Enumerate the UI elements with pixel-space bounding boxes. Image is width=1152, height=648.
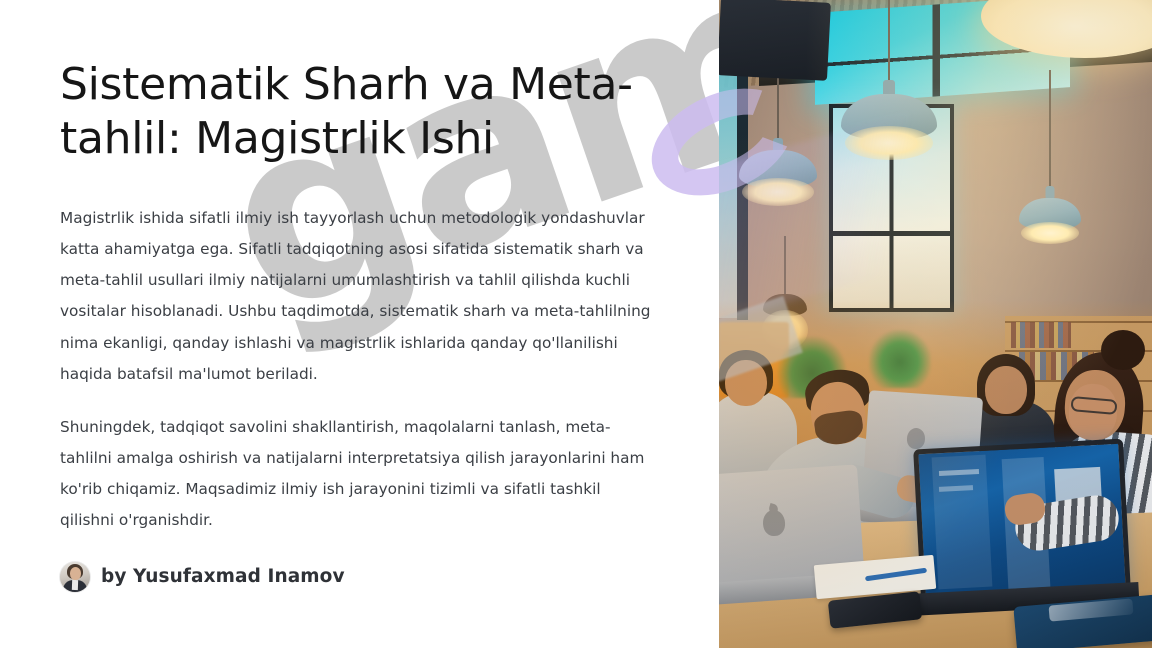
hero-photo (719, 0, 1152, 648)
avatar-shirt (72, 580, 78, 590)
author-byline: by Yusufaxmad Inamov (60, 562, 660, 592)
page-title: Sistematik Sharh va Meta-tahlil: Magistr… (60, 58, 660, 165)
body-paragraph-2: Shuningdek, tadqiqot savolini shakllanti… (60, 412, 656, 536)
photo-scene (719, 0, 1152, 648)
slide-content: Sistematik Sharh va Meta-tahlil: Magistr… (60, 58, 660, 592)
body-paragraph-1: Magistrlik ishida sifatli ilmiy ish tayy… (60, 203, 656, 389)
author-name: by Yusufaxmad Inamov (101, 566, 345, 587)
presentation-slide: gamma Sistematik Sharh va Meta-tahlil: M… (0, 0, 1152, 648)
avatar-face (70, 567, 81, 580)
text-pane: gamma Sistematik Sharh va Meta-tahlil: M… (0, 0, 719, 648)
avatar (60, 562, 90, 592)
